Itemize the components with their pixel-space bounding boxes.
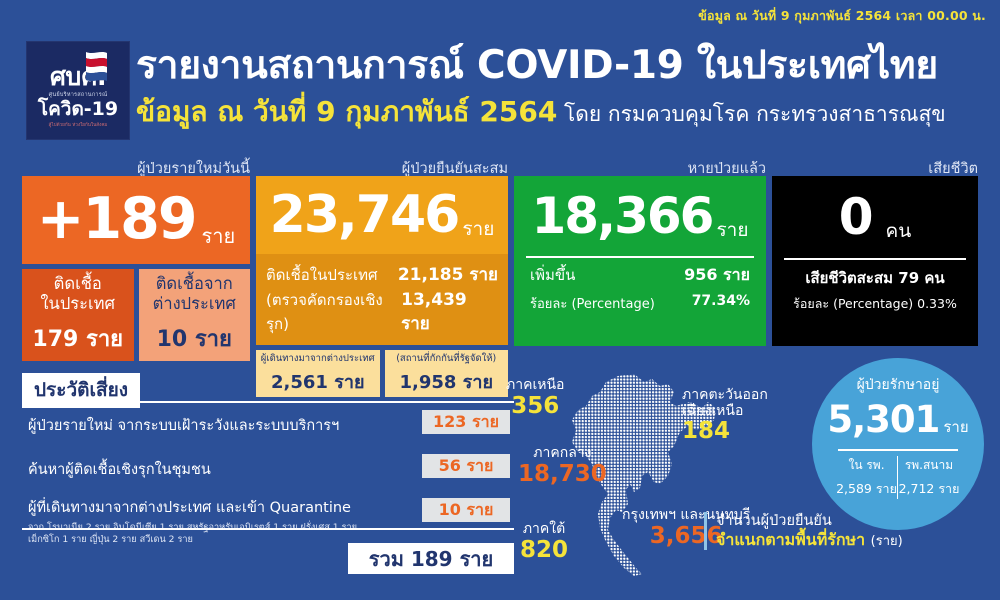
panel-deaths: 0 คน เสียชีวิตสะสม 79 คน ร้อยละ (Percent… [772, 176, 978, 346]
map-region-northeast-name2: เฉียงเหนือ [682, 404, 768, 420]
risk-item-2: ผู้ที่เดินทางมาจากต่างประเทศ และเข้า Qua… [28, 496, 408, 547]
cumulative-breakdown: ติดเชื้อในประเทศ 21,185 ราย (ตรวจคัดกรอง… [256, 254, 508, 345]
subtitle-date: ข้อมูล ณ วันที่ 9 กุมภาพันธ์ 2564 [136, 95, 557, 128]
new-domestic-label-1: ติดเชื้อ [54, 274, 102, 293]
risk-item-0-value: 123 ราย [422, 410, 510, 434]
logo-covid-text: โควิด-19 [38, 100, 118, 120]
cumulative-domestic-value: 21,185 ราย [398, 261, 498, 288]
active-hospital-value: 2,589 ราย [836, 479, 897, 499]
thai-flag-ribbon [83, 50, 109, 84]
new-cases-domestic: ติดเชื้อ ในประเทศ 179 ราย [22, 269, 134, 361]
risk-item-1-value: 56 ราย [422, 454, 510, 478]
panel-new-cases: +189 ราย ติดเชื้อ ในประเทศ 179 ราย ติดเช… [22, 176, 250, 361]
cumulative-quarantine-value: 1,958 ราย [399, 367, 493, 396]
cumulative-abroad-value: 2,561 ราย [271, 367, 365, 396]
map-region-north-value: 356 [506, 394, 564, 420]
risk-item-0: ผู้ป่วยรายใหม่ จากระบบเฝ้าระวังและระบบบร… [28, 414, 339, 437]
cumulative-screening-label: (ตรวจคัดกรองเชิงรุก) [266, 288, 401, 336]
active-header: ผู้ป่วยรักษาอยู่ [857, 374, 940, 396]
risk-item-1-label: ค้นหาผู้ติดเชื้อเชิงรุกในชุมชน [28, 458, 211, 481]
cumulative-domestic-label: ติดเชื้อในประเทศ [266, 263, 378, 287]
map-region-northeast-value: 184 [682, 419, 768, 445]
panel-active-cases: ผู้ป่วยรักษาอยู่ 5,301 ราย ใน รพ. 2,589 … [812, 358, 984, 530]
recovered-increase-label: เพิ่มขึ้น [530, 263, 575, 288]
map-region-northeast-name: ภาคตะวันออก [682, 388, 768, 404]
recovered-percent-label: ร้อยละ (Percentage) [530, 293, 655, 314]
risk-total: รวม 189 ราย [348, 543, 514, 574]
new-domestic-value: 179 ราย [32, 321, 123, 356]
panel-recovered: 18,366 ราย เพิ่มขึ้น 956 ราย ร้อยละ (Per… [514, 176, 766, 346]
map-region-central-value: 18,730 [518, 462, 607, 488]
recovered-value: 18,366 [532, 194, 713, 239]
map-caption-line2: จำแนกตามพื้นที่รักษา [716, 530, 865, 549]
map-region-northeast: ภาคตะวันออก เฉียงเหนือ 184 [682, 388, 768, 445]
new-cases-foreign: ติดเชื้อจาก ต่างประเทศ 10 ราย [139, 269, 251, 361]
deaths-value-box: 0 คน [772, 176, 978, 258]
risk-item-0-label: ผู้ป่วยรายใหม่ จากระบบเฝ้าระวังและระบบบร… [28, 414, 339, 437]
recovered-increase-row: เพิ่มขึ้น 956 ราย [514, 258, 766, 288]
cumulative-row-screening: (ตรวจคัดกรองเชิงรุก) 13,439 ราย [266, 288, 498, 337]
new-foreign-label-2: ต่างประเทศ [153, 294, 236, 313]
active-value: 5,301 [827, 398, 939, 441]
deaths-percent: ร้อยละ (Percentage) 0.33% [772, 290, 978, 314]
active-field-label: รพ.สนาม [898, 456, 960, 475]
report-timestamp: ข้อมูล ณ วันที่ 9 กุมภาพันธ์ 2564 เวลา 0… [698, 6, 986, 26]
active-hospital: ใน รพ. 2,589 ราย [836, 456, 898, 499]
page-title: รายงานสถานการณ์ COVID-19 ในประเทศไทย [136, 46, 938, 85]
cumulative-value: 23,746 [270, 192, 459, 239]
risk-item-2-label: ผู้ที่เดินทางมาจากต่างประเทศ และเข้า Qua… [28, 496, 408, 519]
active-field-value: 2,712 ราย [898, 479, 960, 499]
map-region-north-name: ภาคเหนือ [506, 378, 564, 394]
cumulative-abroad-label: ผู้เดินทางมาจากต่างประเทศ [261, 351, 375, 366]
map-caption-line1: จำนวนผู้ป่วยยืนยัน [716, 512, 903, 530]
recovered-value-box: 18,366 ราย [514, 176, 766, 256]
map-caption-unit: (ราย) [871, 534, 903, 549]
new-foreign-label-1: ติดเชื้อจาก [156, 274, 233, 293]
map-region-north: ภาคเหนือ 356 [506, 378, 564, 419]
new-foreign-value: 10 ราย [157, 321, 232, 356]
sbk-logo: ศบค. ศูนย์บริหารสถานการณ์ โควิด-19 สู้ไป… [26, 41, 130, 140]
new-cases-unit: ราย [202, 220, 236, 252]
deaths-unit: คน [886, 216, 912, 246]
cumulative-unit: ราย [462, 214, 494, 244]
risk-divider-bottom [22, 528, 514, 530]
cumulative-quarantine-box: (สถานที่กักกันที่รัฐจัดให้) 1,958 ราย [385, 350, 509, 397]
logo-tagline: สู้ไปด้วยกัน ห่วงใยกันในสังคม [49, 122, 108, 129]
infographic-root: ข้อมูล ณ วันที่ 9 กุมภาพันธ์ 2564 เวลา 0… [0, 0, 1000, 600]
active-field-hospital: รพ.สนาม 2,712 ราย [898, 456, 960, 499]
cumulative-quarantine-label: (สถานที่กักกันที่รัฐจัดให้) [396, 351, 496, 366]
deaths-value: 0 [839, 195, 874, 240]
recovered-percent-row: ร้อยละ (Percentage) 77.34% [514, 288, 766, 314]
active-hospital-label: ใน รพ. [836, 456, 897, 475]
new-domestic-label-2: ในประเทศ [40, 294, 115, 313]
cumulative-screening-value: 13,439 ราย [401, 290, 498, 337]
recovered-percent-value: 77.34% [692, 293, 750, 314]
active-unit: ราย [943, 415, 968, 439]
risk-item-2-value: 10 ราย [422, 498, 510, 522]
map-region-south-value: 820 [520, 538, 568, 564]
cumulative-abroad-box: ผู้เดินทางมาจากต่างประเทศ 2,561 ราย [256, 350, 380, 397]
new-cases-value-box: +189 ราย [22, 176, 250, 264]
recovered-unit: ราย [716, 215, 748, 245]
risk-item-1: ค้นหาผู้ติดเชื้อเชิงรุกในชุมชน [28, 458, 211, 481]
cumulative-row-domestic: ติดเชื้อในประเทศ 21,185 ราย [266, 261, 498, 288]
map-region-central-name: ภาคกลาง [518, 446, 607, 462]
deaths-cumulative: เสียชีวิตสะสม 79 คน [772, 260, 978, 290]
recovered-increase-value: 956 ราย [684, 263, 750, 288]
risk-divider-top [22, 401, 514, 403]
map-region-central: ภาคกลาง 18,730 [518, 446, 607, 487]
active-divider [838, 449, 958, 451]
map-caption: จำนวนผู้ป่วยยืนยัน จำแนกตามพื้นที่รักษา … [704, 512, 903, 550]
subtitle-source: โดย กรมควบคุมโรค กระทรวงสาธารณสุข [557, 102, 945, 126]
cumulative-subboxes: ผู้เดินทางมาจากต่างประเทศ 2,561 ราย (สถา… [256, 350, 508, 397]
new-cases-breakdown: ติดเชื้อ ในประเทศ 179 ราย ติดเชื้อจาก ต่… [22, 269, 250, 361]
cumulative-value-box: 23,746 ราย [256, 176, 508, 254]
map-region-south-name: ภาคใต้ [520, 522, 568, 538]
panel-cumulative: 23,746 ราย ติดเชื้อในประเทศ 21,185 ราย (… [256, 176, 508, 364]
page-subtitle: ข้อมูล ณ วันที่ 9 กุมภาพันธ์ 2564 โดย กร… [136, 98, 946, 126]
map-region-south: ภาคใต้ 820 [520, 522, 568, 563]
new-cases-value: +189 [37, 194, 196, 245]
